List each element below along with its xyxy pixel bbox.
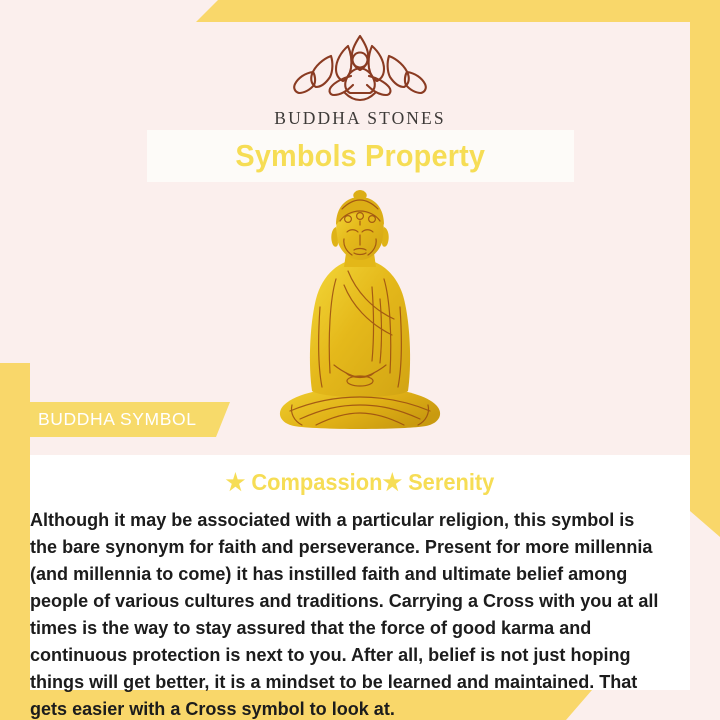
frame-accent-left	[0, 363, 30, 720]
frame-accent-right	[690, 22, 720, 537]
brand-name: BUDDHA STONES	[274, 108, 445, 129]
frame-accent-top	[196, 0, 720, 22]
category-tag: BUDDHA SYMBOL	[30, 402, 230, 437]
description-card: ★ Compassion★ Serenity Although it may b…	[30, 455, 690, 690]
page-title: Symbols Property	[236, 138, 486, 174]
description-paragraph: Although it may be associated with a par…	[30, 506, 670, 720]
attributes-subtitle: ★ Compassion★ Serenity	[47, 469, 674, 496]
buddha-illustration	[30, 172, 690, 437]
lotus-meditation-icon	[285, 30, 435, 104]
category-tag-label: BUDDHA SYMBOL	[30, 409, 197, 430]
poster-root: BUDDHA STONES Symbols Property	[0, 0, 720, 720]
seated-golden-buddha-statue-icon	[260, 187, 460, 437]
brand-block: BUDDHA STONES	[30, 22, 690, 129]
